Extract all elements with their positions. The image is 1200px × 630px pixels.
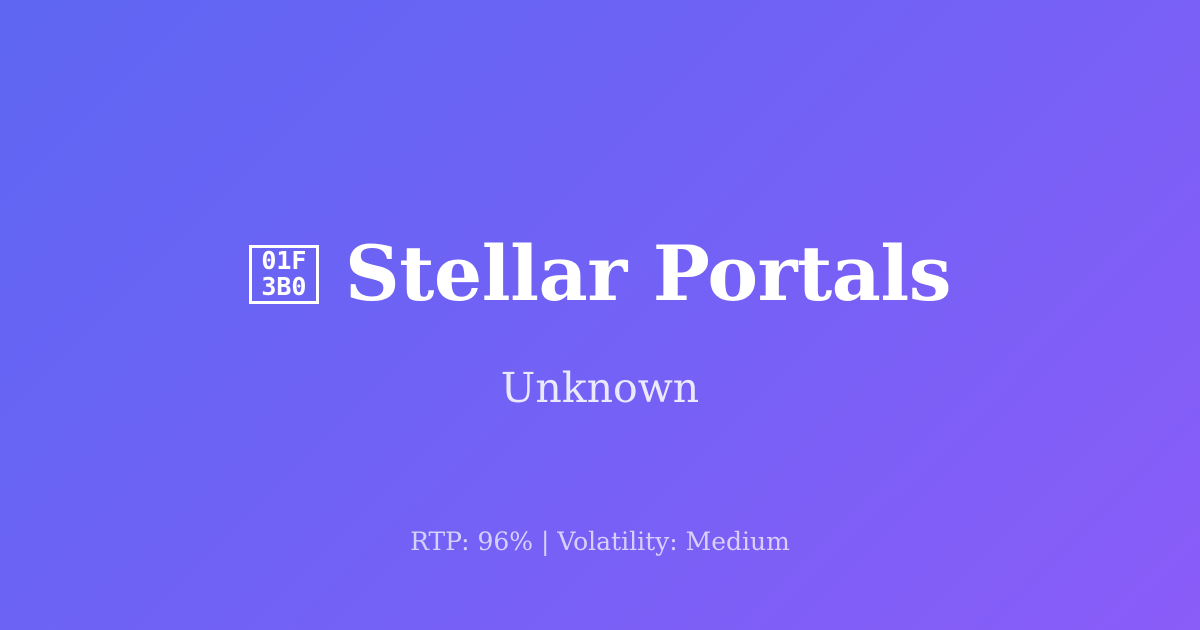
page-title: Stellar Portals bbox=[345, 232, 951, 316]
slot-machine-icon: 01F 3B0 bbox=[249, 245, 319, 304]
title-row: 01F 3B0 Stellar Portals bbox=[0, 232, 1200, 316]
tofu-hex-top: 01F bbox=[261, 248, 306, 274]
game-meta-line: RTP: 96% | Volatility: Medium bbox=[0, 526, 1200, 558]
provider-label: Unknown bbox=[0, 364, 1200, 412]
tofu-hex-bottom: 3B0 bbox=[261, 274, 306, 300]
og-share-card: 01F 3B0 Stellar Portals Unknown RTP: 96%… bbox=[0, 0, 1200, 630]
